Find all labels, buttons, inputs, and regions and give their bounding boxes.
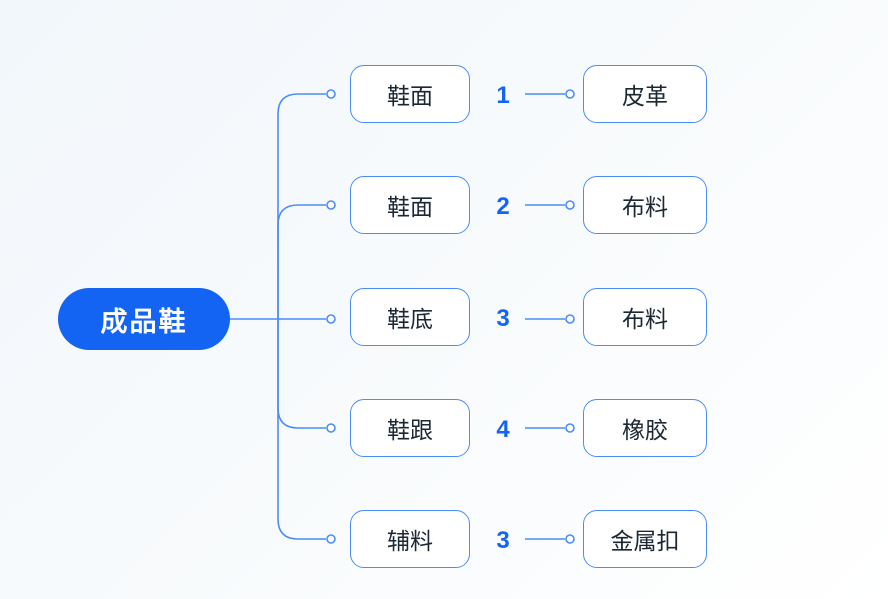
node-component-1[interactable]: 鞋面 xyxy=(350,176,470,234)
node-component-4[interactable]: 辅料 xyxy=(350,510,470,568)
connector-dot-branch-0 xyxy=(327,90,335,98)
node-component-4-label: 辅料 xyxy=(387,522,433,556)
quantity-label-3: 4 xyxy=(488,416,518,444)
node-material-1-label: 布料 xyxy=(622,188,668,222)
connector-dot-branch-2 xyxy=(327,315,335,323)
node-material-4-label: 金属扣 xyxy=(611,522,680,556)
node-material-3[interactable]: 橡胶 xyxy=(583,399,707,457)
node-component-0[interactable]: 鞋面 xyxy=(350,65,470,123)
node-component-1-label: 鞋面 xyxy=(387,188,433,222)
quantity-label-1: 2 xyxy=(488,193,518,221)
connector-dot-leaf-2 xyxy=(566,315,574,323)
connector-dot-leaf-4 xyxy=(566,535,574,543)
quantity-label-0: 1 xyxy=(488,82,518,110)
mindmap-canvas: 成品鞋 鞋面 鞋面 鞋底 鞋跟 辅料 1 2 3 4 3 皮革 布料 布料 橡胶… xyxy=(0,0,888,599)
connector-dot-branch-4 xyxy=(327,535,335,543)
node-material-3-label: 橡胶 xyxy=(622,411,668,445)
node-component-2-label: 鞋底 xyxy=(387,300,433,334)
connector-dot-leaf-0 xyxy=(566,90,574,98)
connector-root-to-branch-0 xyxy=(278,94,326,319)
node-root-label: 成品鞋 xyxy=(101,300,188,339)
node-material-0[interactable]: 皮革 xyxy=(583,65,707,123)
node-component-2[interactable]: 鞋底 xyxy=(350,288,470,346)
connector-root-to-branch-4 xyxy=(278,319,326,539)
node-root[interactable]: 成品鞋 xyxy=(58,288,230,350)
node-material-1[interactable]: 布料 xyxy=(583,176,707,234)
connector-root-to-branch-1 xyxy=(278,205,326,319)
node-material-2[interactable]: 布料 xyxy=(583,288,707,346)
connector-root-to-branch-3 xyxy=(278,319,326,428)
connector-dot-branch-1 xyxy=(327,201,335,209)
connector-dot-branch-3 xyxy=(327,424,335,432)
connector-dot-leaf-3 xyxy=(566,424,574,432)
node-material-0-label: 皮革 xyxy=(622,77,668,111)
node-material-4[interactable]: 金属扣 xyxy=(583,510,707,568)
node-material-2-label: 布料 xyxy=(622,300,668,334)
quantity-label-2: 3 xyxy=(488,305,518,333)
node-component-3[interactable]: 鞋跟 xyxy=(350,399,470,457)
quantity-label-4: 3 xyxy=(488,527,518,555)
connector-dot-leaf-1 xyxy=(566,201,574,209)
node-component-3-label: 鞋跟 xyxy=(387,411,433,445)
node-component-0-label: 鞋面 xyxy=(387,77,433,111)
